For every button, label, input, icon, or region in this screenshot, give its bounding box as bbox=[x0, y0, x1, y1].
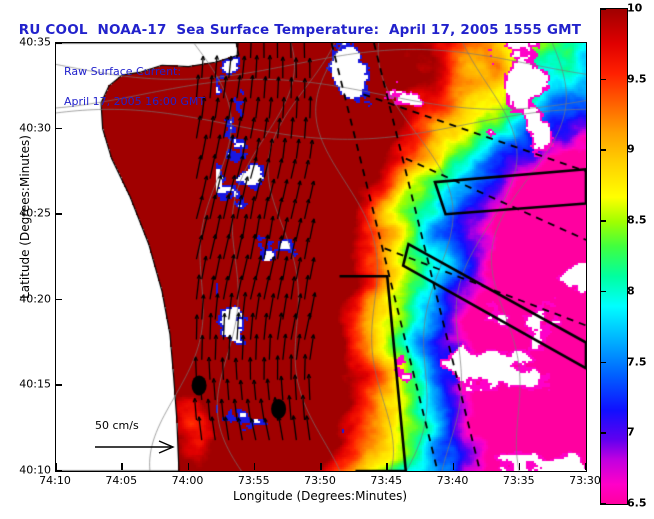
x-tick-label: 73:45 bbox=[370, 474, 402, 487]
colorbar-tick-label: 7.5 bbox=[627, 355, 647, 368]
x-tick-mark bbox=[453, 463, 455, 470]
y-tick-label: 40:20 bbox=[19, 292, 51, 305]
colorbar-tick-label: 8.5 bbox=[627, 214, 647, 227]
colorbar-tick-label: 9.5 bbox=[627, 72, 647, 85]
x-tick-label: 73:35 bbox=[503, 474, 535, 487]
colorbar-tick-mark bbox=[600, 79, 606, 81]
colorbar-tick-mark bbox=[600, 291, 606, 293]
vector-scale-legend: 50 cm/s bbox=[93, 419, 205, 463]
y-tick-mark bbox=[55, 42, 62, 44]
colorbar-tick-mark bbox=[600, 362, 606, 364]
x-tick-label: 74:00 bbox=[172, 474, 204, 487]
vector-scale-label: 50 cm/s bbox=[95, 419, 139, 432]
x-tick-label: 74:05 bbox=[105, 474, 137, 487]
y-tick-mark bbox=[55, 470, 62, 472]
colorbar-tick-label: 6.5 bbox=[627, 497, 647, 510]
x-tick-mark bbox=[585, 463, 587, 470]
x-tick-label: 73:50 bbox=[304, 474, 336, 487]
x-tick-mark bbox=[320, 463, 322, 470]
x-tick-mark bbox=[254, 463, 256, 470]
map-plot-area[interactable]: Raw Surface Current: April 17, 2005 16:0… bbox=[55, 42, 587, 472]
colorbar-tick-mark bbox=[600, 432, 606, 434]
x-axis-title: Longitude (Degrees:Minutes) bbox=[55, 489, 585, 503]
temperature-colorbar bbox=[600, 8, 628, 505]
x-tick-mark bbox=[386, 463, 388, 470]
colorbar-tick-mark bbox=[600, 503, 606, 505]
y-tick-mark bbox=[55, 128, 62, 130]
x-tick-mark bbox=[188, 463, 190, 470]
colorbar-tick-label: 8 bbox=[627, 284, 635, 297]
y-tick-mark bbox=[55, 213, 62, 215]
colorbar-tick-mark bbox=[600, 8, 606, 10]
y-tick-mark bbox=[55, 384, 62, 386]
y-tick-label: 40:10 bbox=[19, 464, 51, 477]
page-title: RU COOL NOAA-17 Sea Surface Temperature:… bbox=[0, 22, 600, 38]
colorbar-tick-label: 10 bbox=[627, 2, 642, 15]
x-tick-mark bbox=[55, 463, 57, 470]
colorbar-tick-mark bbox=[600, 149, 606, 151]
y-tick-label: 40:30 bbox=[19, 121, 51, 134]
y-tick-label: 40:15 bbox=[19, 378, 51, 391]
y-tick-label: 40:25 bbox=[19, 207, 51, 220]
x-tick-label: 73:55 bbox=[238, 474, 270, 487]
x-tick-mark bbox=[519, 463, 521, 470]
colorbar-tick-label: 7 bbox=[627, 426, 635, 439]
x-tick-mark bbox=[121, 463, 123, 470]
y-tick-mark bbox=[55, 299, 62, 301]
x-tick-label: 73:40 bbox=[437, 474, 469, 487]
sst-heatmap-canvas bbox=[56, 43, 586, 471]
y-tick-label: 40:35 bbox=[19, 36, 51, 49]
colorbar-tick-mark bbox=[600, 220, 606, 222]
vector-scale-arrow-icon bbox=[93, 437, 185, 457]
colorbar-tick-label: 9 bbox=[627, 143, 635, 156]
x-tick-label: 73:30 bbox=[569, 474, 601, 487]
